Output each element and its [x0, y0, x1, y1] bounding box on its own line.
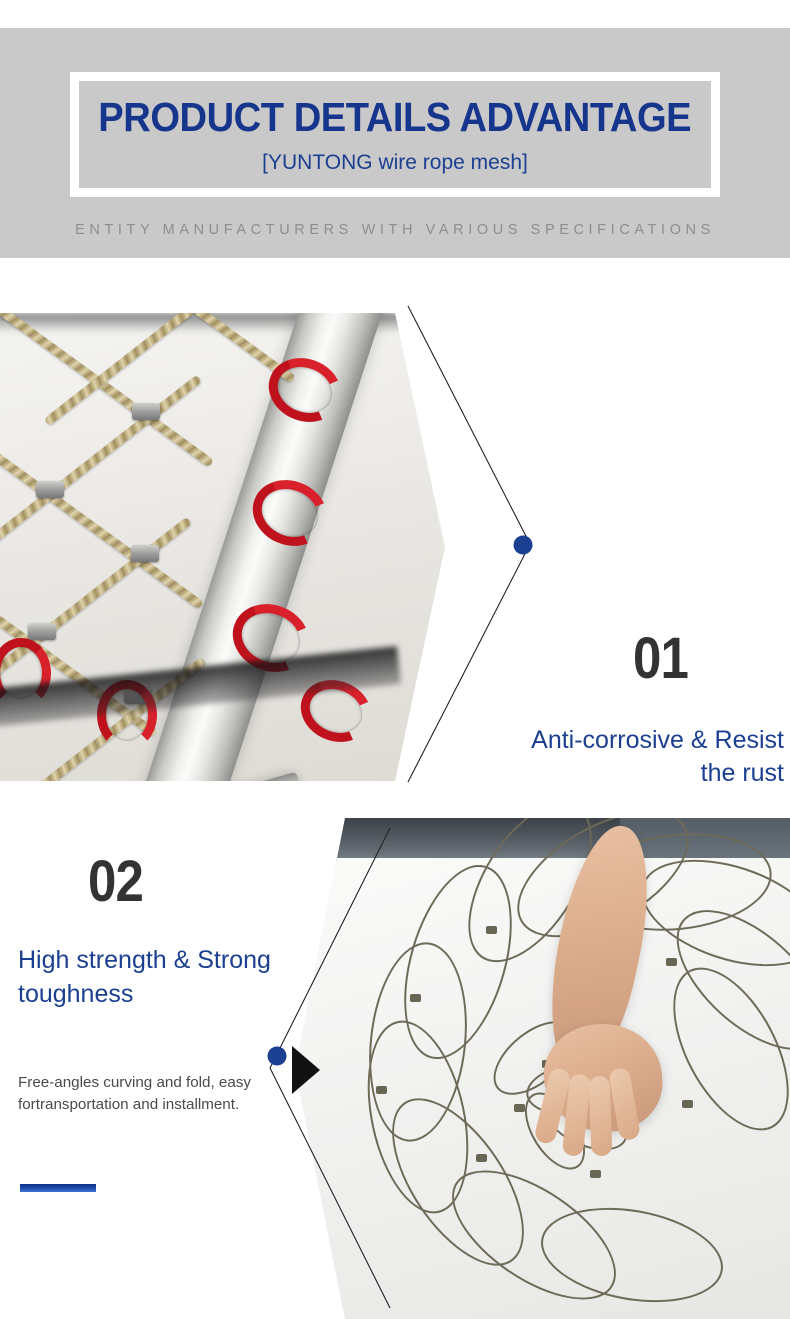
feature-number-02: 02: [88, 853, 143, 911]
page-subtitle: [YUNTONG wire rope mesh]: [262, 152, 528, 173]
connector-dot-02: [268, 1047, 287, 1066]
accent-bar-02: [20, 1184, 96, 1192]
feature-body-02: Free-angles curving and fold, easy fortr…: [18, 1072, 268, 1116]
page-title: PRODUCT DETAILS ADVANTAGE: [99, 97, 692, 138]
connector-dot-01: [514, 536, 533, 555]
feature-heading-02: High strength & Strong toughness: [18, 944, 288, 1011]
header-tagline: ENTITY MANUFACTURERS WITH VARIOUS SPECIF…: [0, 222, 790, 238]
feature-heading-01: Anti-corrosive & Resist the rust: [506, 724, 784, 790]
title-frame: PRODUCT DETAILS ADVANTAGE [YUNTONG wire …: [70, 72, 720, 197]
product-details-page: PRODUCT DETAILS ADVANTAGE [YUNTONG wire …: [0, 0, 790, 1319]
feature-number-01: 01: [633, 630, 688, 688]
feature-block-02: 02 High strength & Strong toughness Free…: [0, 818, 790, 1319]
feature-image-01: [0, 313, 445, 781]
feature-block-01: 01 Anti-corrosive & Resist the rust It c…: [0, 300, 790, 800]
feature-image-02: [290, 818, 790, 1319]
